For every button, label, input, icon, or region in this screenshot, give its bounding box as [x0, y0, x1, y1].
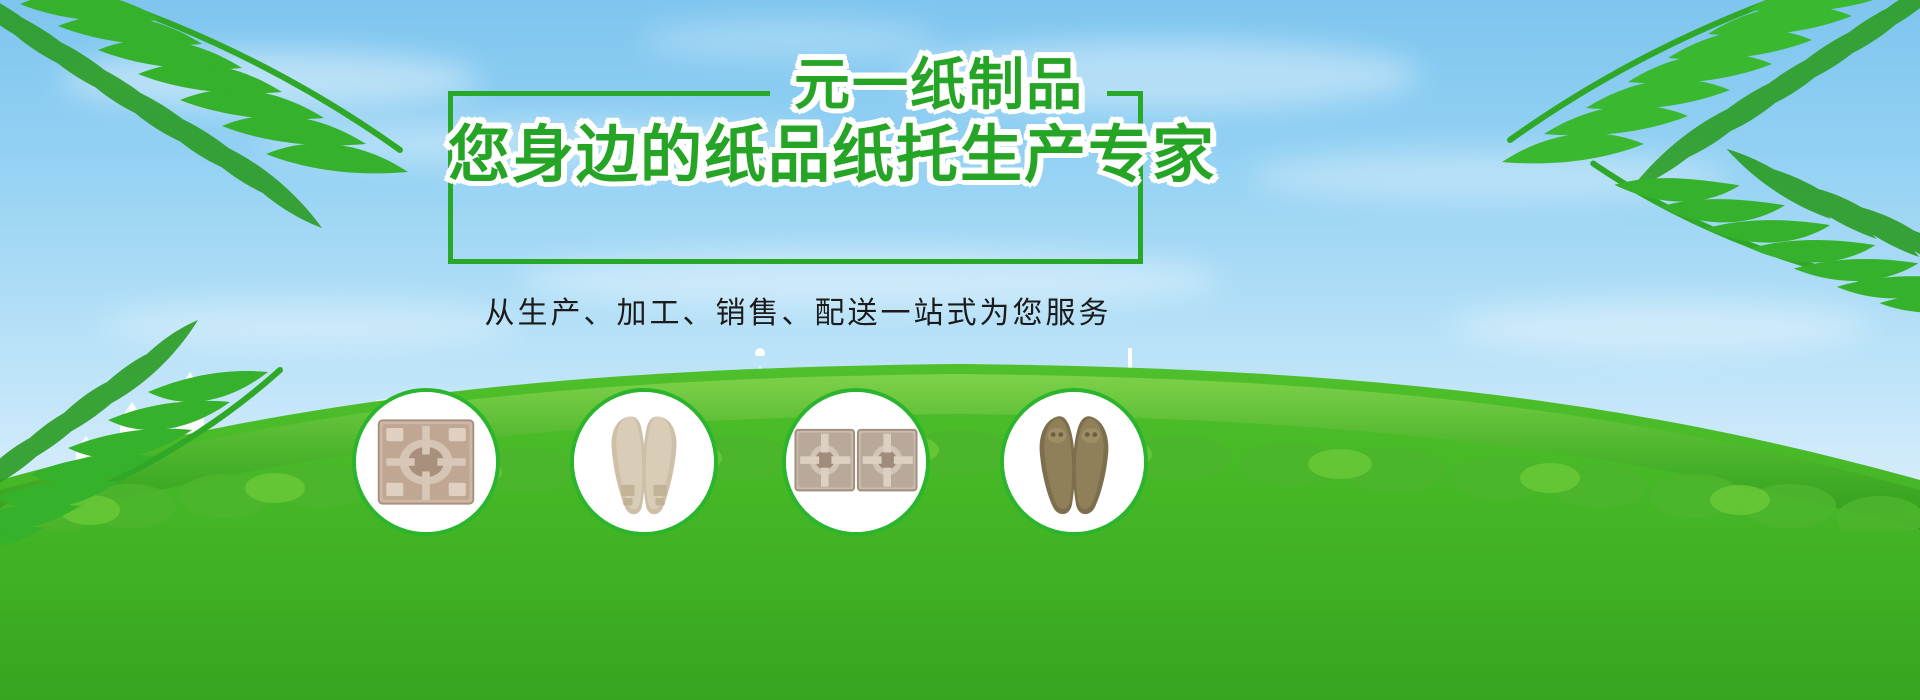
- promo-banner: 元一纸制品 您身边的纸品纸托生产专家 从生产、加工、销售、配送一站式为您服务: [0, 0, 1920, 700]
- palm-frond-bottom-left-icon: [0, 240, 330, 570]
- product-circle-molded-pulp-corner-pair[interactable]: [782, 388, 930, 536]
- headline-block: 元一纸制品 您身边的纸品纸托生产专家 从生产、加工、销售、配送一站式为您服务: [448, 96, 1138, 264]
- title-wrap: 元一纸制品 您身边的纸品纸托生产专家: [448, 58, 1148, 186]
- title-line-2: 您身边的纸品纸托生产专家: [448, 124, 1130, 186]
- title-line-1: 元一纸制品: [448, 58, 1130, 114]
- palm-frond-bottom-right-icon: [1530, 30, 1920, 370]
- product-circle-molded-pulp-shoe-insoles[interactable]: [570, 388, 718, 536]
- subtitle: 从生产、加工、销售、配送一站式为您服务: [448, 288, 1148, 332]
- product-circle-molded-pulp-square-tray[interactable]: [352, 388, 500, 536]
- product-circle-molded-pulp-dark-insoles[interactable]: [1000, 388, 1148, 536]
- palm-frond-top-left-icon: [0, 0, 490, 270]
- product-showcase: [352, 388, 1192, 548]
